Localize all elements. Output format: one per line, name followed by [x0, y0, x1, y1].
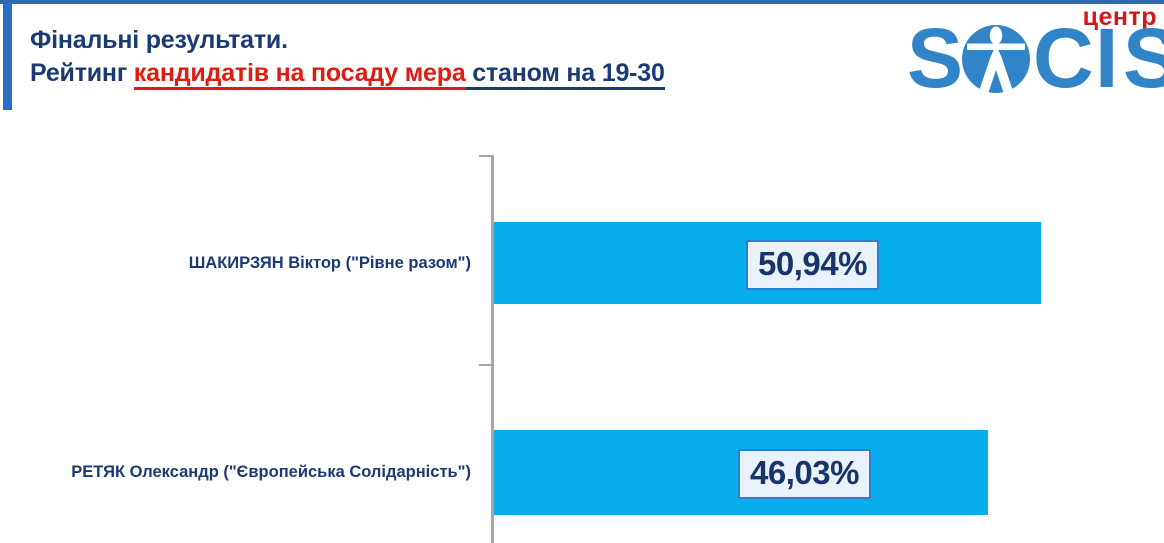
logo-letter-s-last: S — [1123, 16, 1164, 100]
logo-letter-i: I — [1095, 16, 1118, 100]
title-line-1-text: Фінальні результати. — [30, 26, 288, 54]
bar-chart: ШАКИРЗЯН Віктор ("Рівне разом") 50,94% Р… — [0, 112, 1164, 543]
title-line-2: Рейтинг кандидатів на посаду мера станом… — [30, 57, 860, 90]
title-suffix: станом на 19-30 — [466, 59, 665, 90]
logo-wordmark: S C I S — [905, 20, 1163, 102]
logo-letter-s-first: S — [907, 16, 963, 100]
title-highlight: кандидатів на посаду мера — [134, 59, 466, 90]
bar-value-label-2: 46,03% — [738, 449, 871, 499]
title-prefix: Рейтинг — [30, 59, 134, 87]
slide-canvas: Фінальні результати. Рейтинг кандидатів … — [0, 0, 1164, 543]
bar-category-label-2: РЕТЯК Олександр ("Європейська Солідарніс… — [0, 461, 479, 483]
socis-logo: центр S C I S — [905, 2, 1163, 106]
page-title: Фінальні результати. Рейтинг кандидатів … — [30, 24, 860, 90]
header-band: Фінальні результати. Рейтинг кандидатів … — [0, 0, 1164, 112]
vitruvian-figure-icon — [961, 24, 1031, 94]
header-left-accent-bar — [3, 4, 12, 111]
title-line-1: Фінальні результати. — [30, 24, 860, 57]
bar-category-label-1: ШАКИРЗЯН Віктор ("Рівне разом") — [0, 252, 479, 274]
logo-letter-c: C — [1033, 16, 1094, 100]
bar-value-label-1: 50,94% — [746, 240, 879, 290]
axis-tick-top — [479, 155, 491, 157]
axis-tick-middle — [479, 364, 491, 366]
